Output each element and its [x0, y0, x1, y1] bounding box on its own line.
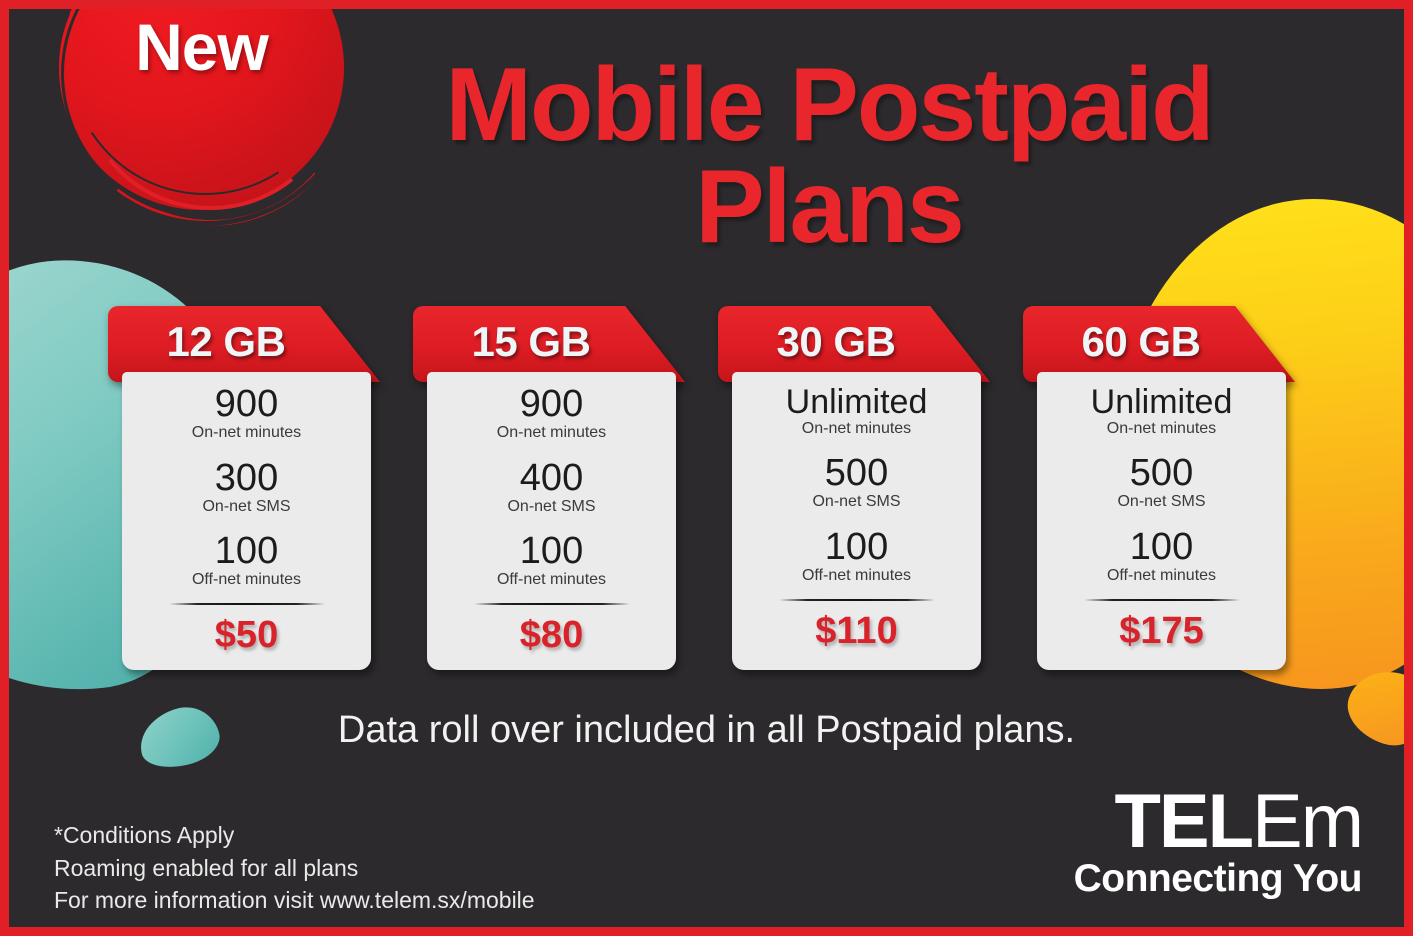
plan-card-body: Unlimited On-net minutes 500 On-net SMS …: [732, 372, 981, 670]
poster-frame: New Mobile Postpaid Plans 12 GB 900 On-n…: [0, 0, 1413, 936]
plan-data-ribbon: 60 GB: [1023, 306, 1295, 382]
plan-feature-value: 100: [1037, 527, 1286, 568]
plan-card[interactable]: 12 GB 900 On-net minutes 300 On-net SMS …: [122, 306, 371, 676]
logo-wordmark-bold: TEL: [1114, 779, 1252, 864]
plan-card-body: 900 On-net minutes 300 On-net SMS 100 Of…: [122, 372, 371, 670]
plan-data-label: 60 GB: [1023, 318, 1259, 366]
price-divider: [169, 603, 325, 605]
plan-price: $50: [122, 614, 371, 657]
promo-tagline: Data roll over included in all Postpaid …: [9, 709, 1404, 752]
plan-price: $80: [427, 614, 676, 657]
plan-feature: 100 Off-net minutes: [122, 531, 371, 589]
plan-data-ribbon: 12 GB: [108, 306, 380, 382]
plan-feature-label: Off-net minutes: [122, 571, 371, 589]
plan-feature: 400 On-net SMS: [427, 458, 676, 516]
price-divider: [474, 603, 630, 605]
price-divider: [1084, 599, 1240, 601]
plan-card[interactable]: 15 GB 900 On-net minutes 400 On-net SMS …: [427, 306, 676, 676]
plan-data-ribbon: 30 GB: [718, 306, 990, 382]
plan-feature: 300 On-net SMS: [122, 458, 371, 516]
plan-feature: 900 On-net minutes: [427, 384, 676, 442]
plan-data-ribbon: 15 GB: [413, 306, 685, 382]
plan-price: $110: [732, 610, 981, 653]
plan-data-label: 30 GB: [718, 318, 954, 366]
plan-feature-value: 100: [122, 531, 371, 572]
plan-feature-value: 900: [427, 384, 676, 425]
new-badge-label: New: [59, 9, 344, 85]
logo-tagline: Connecting You: [1074, 859, 1362, 898]
page-title-line-1: Mobile Postpaid: [329, 55, 1329, 157]
plan-feature-label: On-net minutes: [1037, 420, 1286, 438]
plan-feature: 500 On-net SMS: [732, 453, 981, 511]
plan-feature-label: On-net SMS: [732, 493, 981, 511]
plan-feature: 100 Off-net minutes: [732, 527, 981, 585]
footer-note-conditions: *Conditions Apply: [54, 819, 535, 852]
plan-feature: Unlimited On-net minutes: [732, 384, 981, 437]
page-title-line-2: Plans: [329, 157, 1329, 259]
plan-price: $175: [1037, 610, 1286, 653]
plan-feature: Unlimited On-net minutes: [1037, 384, 1286, 437]
plan-card-list: 12 GB 900 On-net minutes 300 On-net SMS …: [122, 306, 1352, 676]
plan-feature-label: Off-net minutes: [1037, 567, 1286, 585]
telem-logo: TELEm Connecting You: [1074, 787, 1362, 898]
plan-feature-value: 500: [732, 453, 981, 494]
plan-card[interactable]: 30 GB Unlimited On-net minutes 500 On-ne…: [732, 306, 981, 676]
plan-feature-value: Unlimited: [732, 384, 981, 421]
plan-feature: 500 On-net SMS: [1037, 453, 1286, 511]
page-title: Mobile Postpaid Plans: [329, 55, 1329, 259]
plan-feature-label: On-net SMS: [427, 498, 676, 516]
price-divider: [779, 599, 935, 601]
plan-feature-value: 300: [122, 458, 371, 499]
logo-wordmark: TELEm: [1074, 787, 1362, 857]
plan-card[interactable]: 60 GB Unlimited On-net minutes 500 On-ne…: [1037, 306, 1286, 676]
plan-feature-label: On-net minutes: [732, 420, 981, 438]
plan-feature-label: Off-net minutes: [732, 567, 981, 585]
plan-card-body: 900 On-net minutes 400 On-net SMS 100 Of…: [427, 372, 676, 670]
plan-feature-value: 100: [427, 531, 676, 572]
poster-canvas: New Mobile Postpaid Plans 12 GB 900 On-n…: [9, 9, 1404, 927]
plan-feature-label: Off-net minutes: [427, 571, 676, 589]
footer-notes: *Conditions Apply Roaming enabled for al…: [54, 819, 535, 917]
plan-feature-label: On-net minutes: [122, 424, 371, 442]
plan-feature-value: Unlimited: [1037, 384, 1286, 421]
plan-feature: 900 On-net minutes: [122, 384, 371, 442]
new-badge: New: [59, 9, 344, 210]
plan-feature-value: 100: [732, 527, 981, 568]
plan-feature-label: On-net SMS: [122, 498, 371, 516]
plan-data-label: 15 GB: [413, 318, 649, 366]
plan-feature: 100 Off-net minutes: [1037, 527, 1286, 585]
plan-feature-value: 400: [427, 458, 676, 499]
footer-note-roaming: Roaming enabled for all plans: [54, 852, 535, 885]
plan-data-label: 12 GB: [108, 318, 344, 366]
plan-feature-value: 900: [122, 384, 371, 425]
footer-note-more-info: For more information visit www.telem.sx/…: [54, 884, 535, 917]
logo-wordmark-light: Em: [1252, 779, 1362, 864]
plan-feature-value: 500: [1037, 453, 1286, 494]
plan-feature-label: On-net SMS: [1037, 493, 1286, 511]
plan-feature: 100 Off-net minutes: [427, 531, 676, 589]
plan-card-body: Unlimited On-net minutes 500 On-net SMS …: [1037, 372, 1286, 670]
plan-feature-label: On-net minutes: [427, 424, 676, 442]
